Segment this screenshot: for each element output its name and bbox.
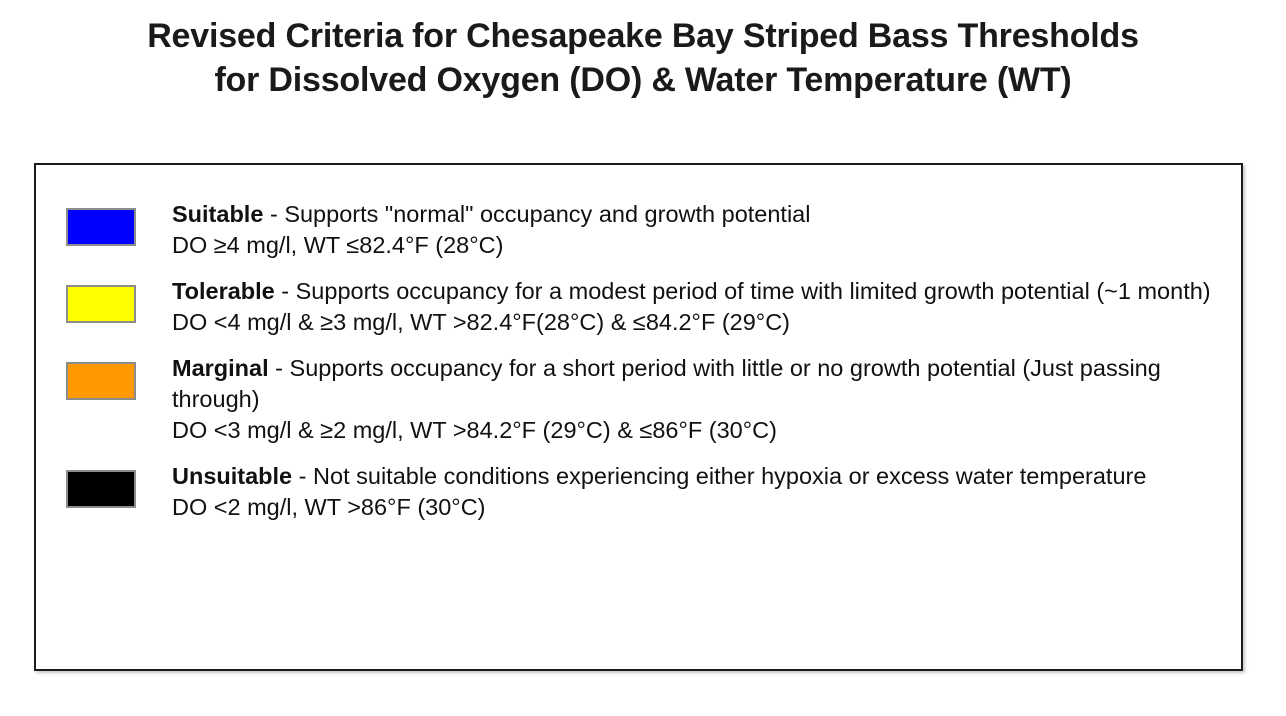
legend-criteria-marginal: DO <3 mg/l & ≥2 mg/l, WT >84.2°F (29°C) … (172, 415, 1231, 446)
color-swatch-marginal (66, 362, 136, 400)
legend-term-marginal: Marginal (172, 355, 269, 381)
legend-item-unsuitable: Unsuitable - Not suitable conditions exp… (36, 461, 1241, 523)
legend-entry-text-suitable: Suitable - Supports "normal" occupancy a… (172, 199, 1241, 261)
legend-criteria-suitable: DO ≥4 mg/l, WT ≤82.4°F (28°C) (172, 230, 1231, 261)
legend-entry-text-marginal: Marginal - Supports occupancy for a shor… (172, 353, 1241, 446)
page-title: Revised Criteria for Chesapeake Bay Stri… (0, 14, 1286, 102)
legend-separator: - (269, 355, 290, 381)
legend-description-tolerable: Supports occupancy for a modest period o… (296, 278, 1211, 304)
legend-separator: - (263, 201, 284, 227)
legend-panel: Suitable - Supports "normal" occupancy a… (34, 163, 1243, 671)
legend-item-marginal: Marginal - Supports occupancy for a shor… (36, 353, 1241, 446)
legend-criteria-tolerable: DO <4 mg/l & ≥3 mg/l, WT >82.4°F(28°C) &… (172, 307, 1231, 338)
legend-item-tolerable: Tolerable - Supports occupancy for a mod… (36, 276, 1241, 338)
legend-term-unsuitable: Unsuitable (172, 463, 292, 489)
legend-description-marginal: Supports occupancy for a short period wi… (172, 355, 1161, 412)
legend-description-unsuitable: Not suitable conditions experiencing eit… (313, 463, 1146, 489)
color-swatch-suitable (66, 208, 136, 246)
legend-item-suitable: Suitable - Supports "normal" occupancy a… (36, 199, 1241, 261)
color-swatch-tolerable (66, 285, 136, 323)
page-title-line-1: Revised Criteria for Chesapeake Bay Stri… (0, 14, 1286, 58)
legend-list: Suitable - Supports "normal" occupancy a… (36, 199, 1241, 538)
legend-entry-text-tolerable: Tolerable - Supports occupancy for a mod… (172, 276, 1241, 338)
legend-description-suitable: Supports "normal" occupancy and growth p… (284, 201, 810, 227)
legend-swatch-cell (66, 199, 172, 246)
legend-swatch-cell (66, 276, 172, 323)
legend-criteria-unsuitable: DO <2 mg/l, WT >86°F (30°C) (172, 492, 1231, 523)
legend-separator: - (275, 278, 296, 304)
legend-term-tolerable: Tolerable (172, 278, 275, 304)
legend-term-suitable: Suitable (172, 201, 263, 227)
legend-swatch-cell (66, 461, 172, 508)
legend-separator: - (292, 463, 313, 489)
legend-swatch-cell (66, 353, 172, 400)
color-swatch-unsuitable (66, 470, 136, 508)
page-title-line-2: for Dissolved Oxygen (DO) & Water Temper… (0, 58, 1286, 102)
legend-entry-text-unsuitable: Unsuitable - Not suitable conditions exp… (172, 461, 1241, 523)
